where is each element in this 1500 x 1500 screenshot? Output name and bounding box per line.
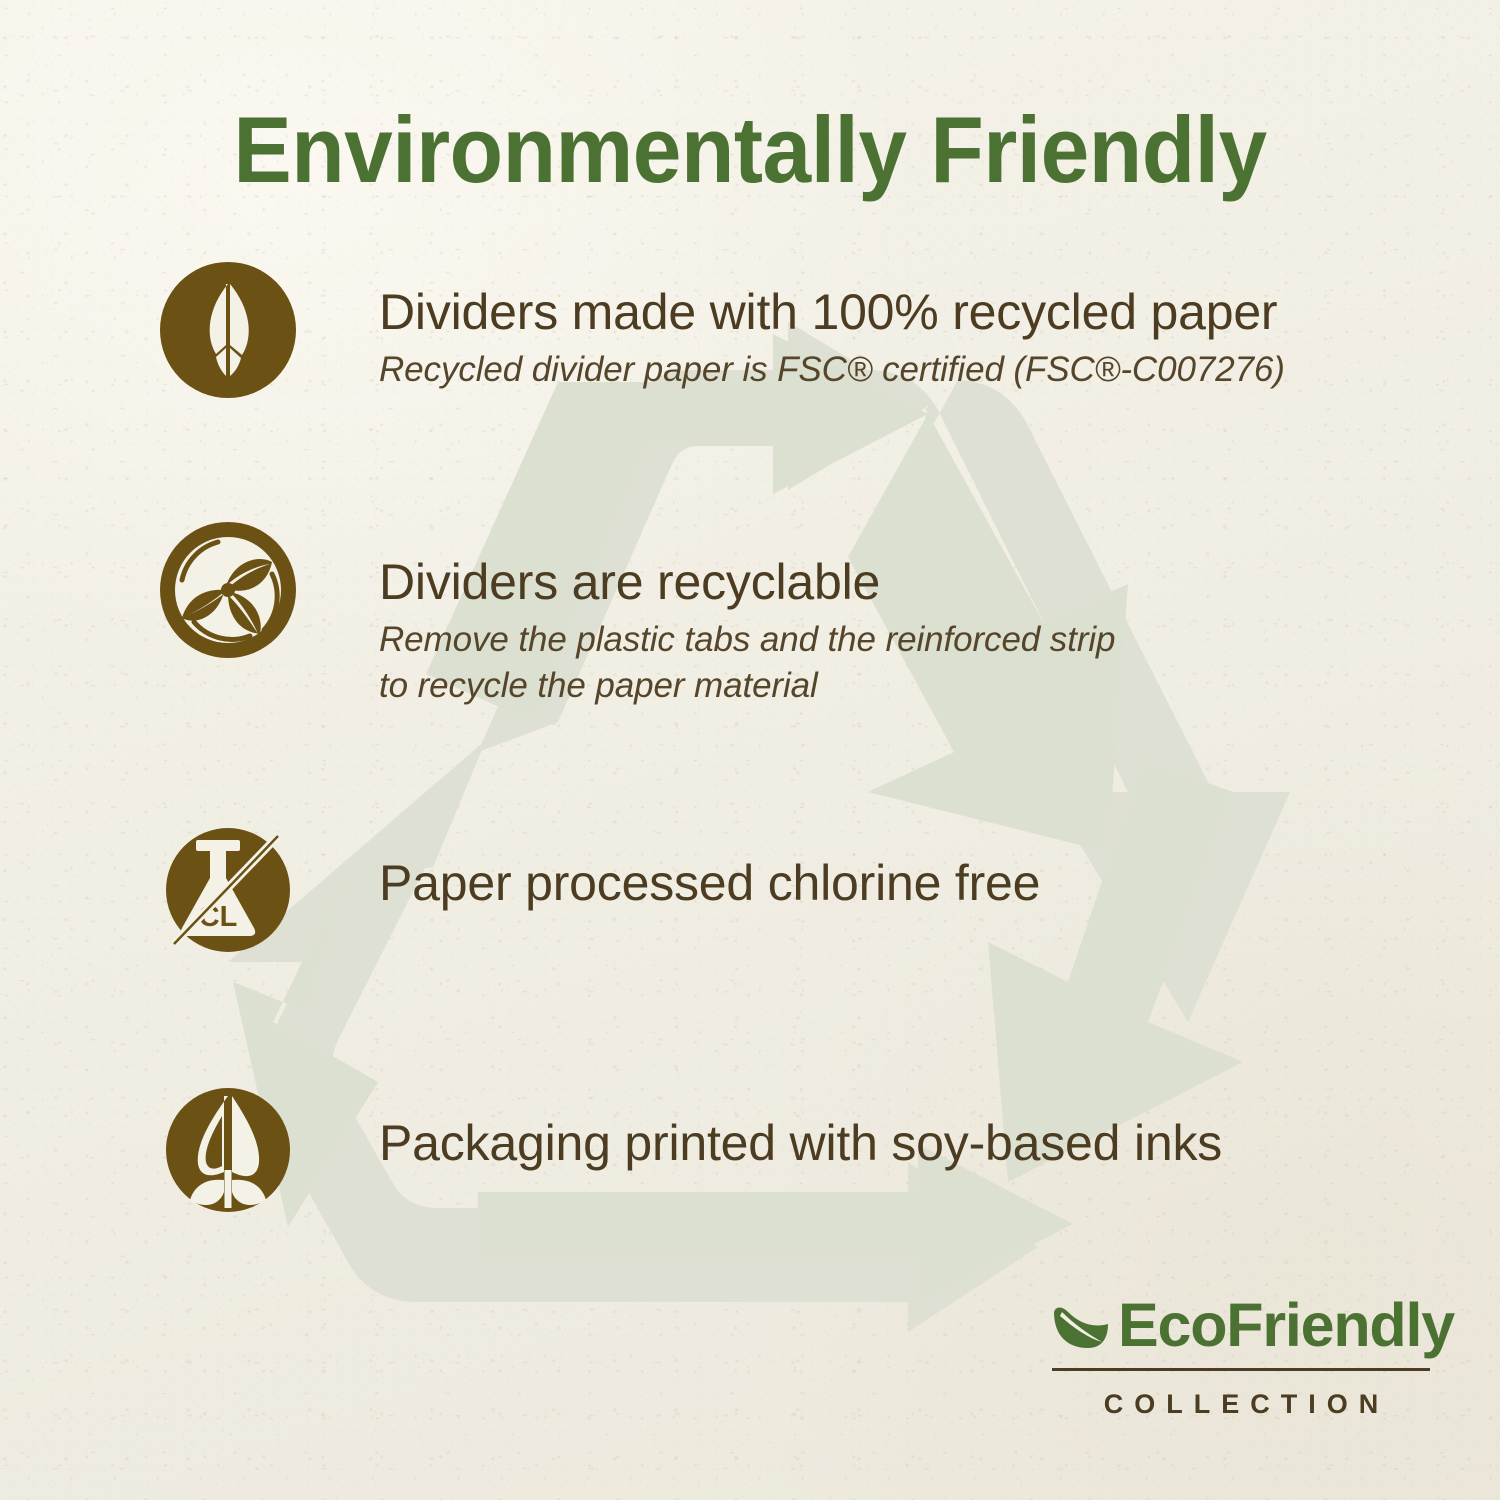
feature-copy: Dividers are recyclable Remove the plast… bbox=[296, 522, 1115, 709]
feature-item-soy-inks: Packaging printed with soy-based inks bbox=[160, 1082, 1222, 1218]
logo-tagline: COLLECTION bbox=[1050, 1389, 1432, 1420]
chlorine-free-flask-circle-icon: CL bbox=[160, 822, 296, 958]
feature-item-chlorine-free: CL Paper processed chlorine free bbox=[160, 822, 1040, 958]
logo-wordmark-row: EcoFriendly bbox=[1050, 1295, 1432, 1356]
feature-copy: Packaging printed with soy-based inks bbox=[296, 1082, 1222, 1171]
feature-copy: Dividers made with 100% recycled paper R… bbox=[296, 262, 1285, 393]
feature-heading: Dividers are recyclable bbox=[379, 554, 1115, 610]
sprout-circle-icon bbox=[160, 1082, 296, 1218]
feature-subtext: Recycled divider paper is FSC® certified… bbox=[379, 347, 1285, 393]
feature-subtext: Remove the plastic tabs and the reinforc… bbox=[379, 617, 1115, 709]
leaf-circle-icon bbox=[160, 262, 296, 398]
recyclable-leaves-circle-icon bbox=[160, 522, 296, 658]
feature-list: Dividers made with 100% recycled paper R… bbox=[0, 0, 1500, 1500]
leaf-icon bbox=[1050, 1298, 1112, 1354]
ecofriendly-collection-logo: EcoFriendly COLLECTION bbox=[1050, 1295, 1432, 1420]
feature-heading: Packaging printed with soy-based inks bbox=[379, 1115, 1222, 1171]
feature-copy: Paper processed chlorine free bbox=[296, 822, 1040, 911]
environmentally-friendly-poster: Environmentally Friendly Dividers made w… bbox=[0, 0, 1500, 1500]
feature-item-recycled-paper: Dividers made with 100% recycled paper R… bbox=[160, 262, 1285, 398]
brand-name: EcoFriendly bbox=[1118, 1295, 1454, 1356]
feature-item-recyclable: Dividers are recyclable Remove the plast… bbox=[160, 522, 1115, 709]
logo-divider bbox=[1052, 1368, 1430, 1371]
feature-heading: Paper processed chlorine free bbox=[379, 855, 1040, 911]
feature-heading: Dividers made with 100% recycled paper bbox=[379, 284, 1285, 340]
